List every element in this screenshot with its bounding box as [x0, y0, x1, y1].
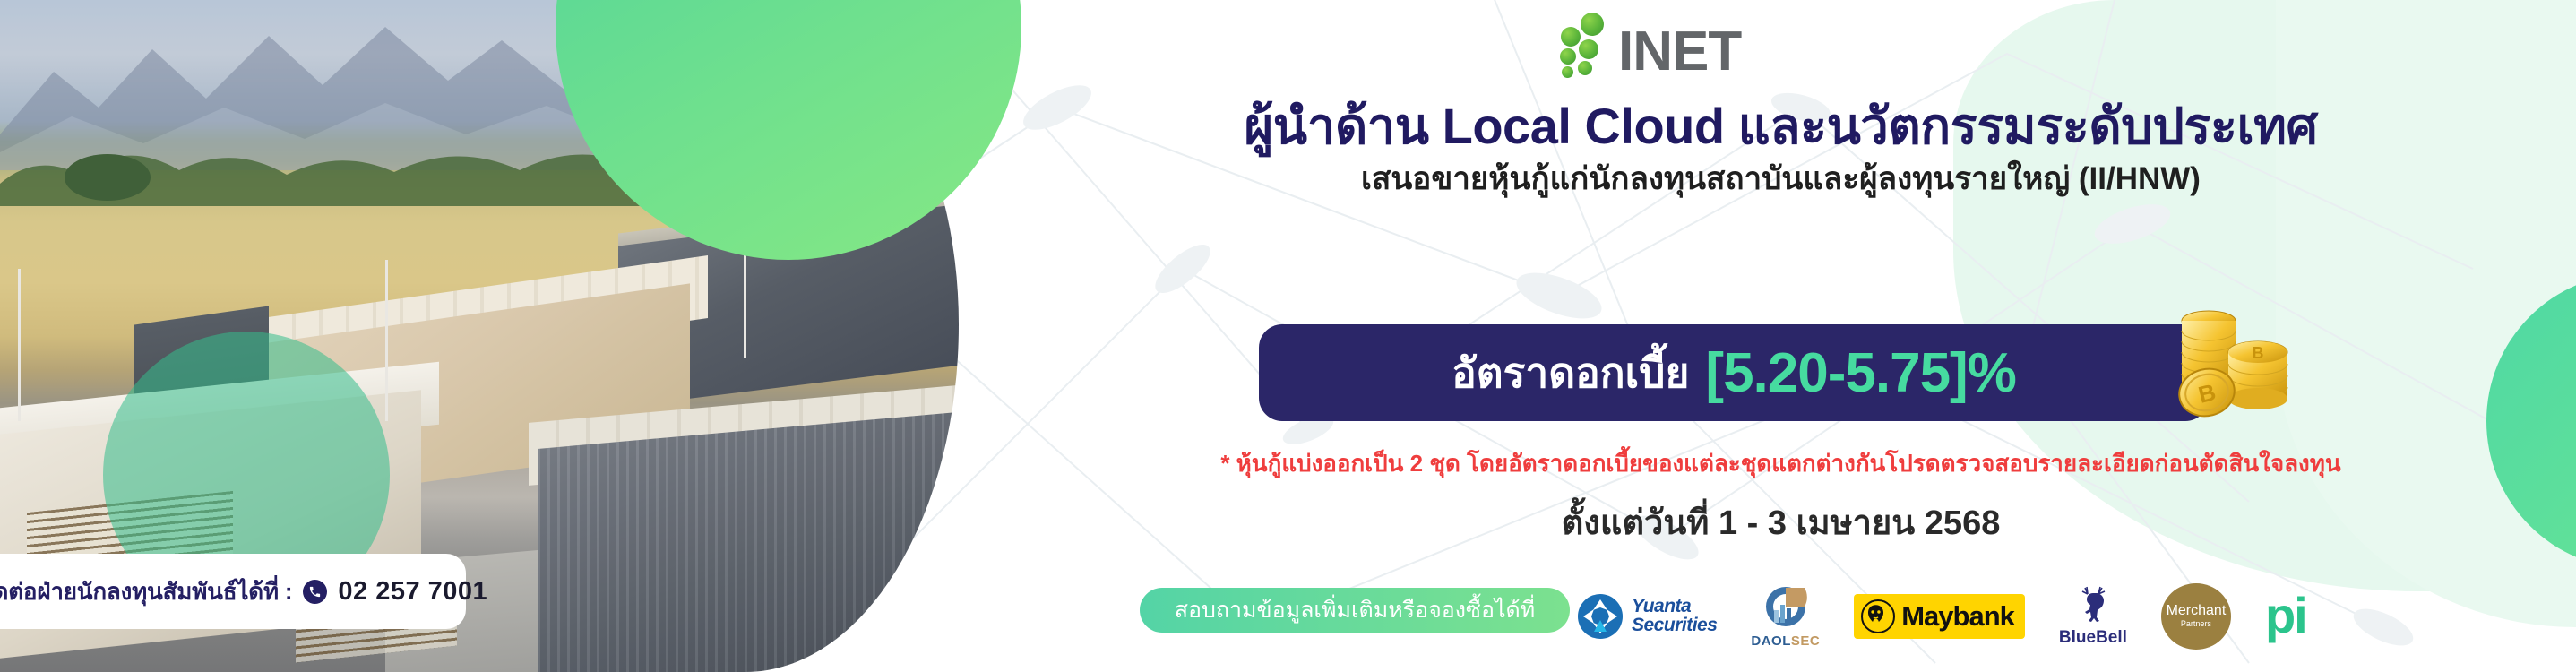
- daol-wordmark: DAOLSEC: [1751, 633, 1820, 649]
- pi-wordmark: pi: [2265, 596, 2306, 636]
- inet-logo: INET: [1559, 13, 1741, 79]
- partner-logo-yuanta[interactable]: Yuanta Securities: [1577, 593, 1717, 640]
- banner-content-column: INET ผู้นำด้าน Local Cloud และนวัตกรรมระ…: [986, 0, 2576, 672]
- partner-logos: Yuanta Securities DAOLSEC: [1577, 578, 2306, 654]
- page-subtitle: เสนอขายหุ้นกู้แก่นักลงทุนสถาบันและผู้ลงท…: [986, 154, 2576, 203]
- yuanta-mark-icon: [1577, 593, 1624, 640]
- maybank-tiger-icon: [1861, 599, 1895, 633]
- yuanta-wordmark: Yuanta Securities: [1632, 598, 1717, 634]
- merchant-line-1: Merchant: [2167, 604, 2227, 619]
- investor-relations-contact-box: ติดต่อฝ่ายนักลงทุนสัมพันธ์ได้ที่ : 02 25…: [0, 554, 466, 629]
- phone-icon: [303, 580, 327, 604]
- maybank-wordmark: Maybank: [1901, 600, 2014, 633]
- inet-dots-icon: [1559, 13, 1611, 79]
- partner-logo-daol[interactable]: DAOLSEC: [1751, 583, 1820, 649]
- bluebell-deer-icon: [2073, 585, 2113, 626]
- interest-rate-label: อัตราดอกเบี้ย: [1452, 340, 1689, 406]
- gold-coins-icon: B B: [2164, 303, 2298, 421]
- partner-logo-pi[interactable]: pi: [2265, 596, 2306, 636]
- daol-mark-icon: [1762, 583, 1809, 630]
- bluebell-wordmark: BlueBell: [2059, 628, 2127, 648]
- inet-wordmark: INET: [1618, 26, 1741, 79]
- promotional-banner: ติดต่อฝ่ายนักลงทุนสัมพันธ์ได้ที่ : 02 25…: [0, 0, 2576, 672]
- interest-rate-value: [5.20-5.75]%: [1705, 341, 2015, 405]
- offering-period: ตั้งแต่วันที่ 1 - 3 เมษายน 2568: [986, 495, 2576, 549]
- svg-text:B: B: [2253, 344, 2264, 362]
- disclaimer-note: * หุ้นกู้แบ่งออกเป็น 2 ชุด โดยอัตราดอกเบ…: [986, 445, 2576, 482]
- contact-phone-number[interactable]: 02 257 7001: [338, 577, 487, 607]
- partner-logo-maybank[interactable]: Maybank: [1854, 594, 2025, 639]
- partner-logo-bluebell[interactable]: BlueBell: [2059, 585, 2127, 648]
- partner-logo-merchant-partners[interactable]: Merchant Partners: [2161, 583, 2231, 650]
- contact-label: ติดต่อฝ่ายนักลงทุนสัมพันธ์ได้ที่ :: [0, 573, 292, 610]
- interest-rate-callout: อัตราดอกเบี้ย [5.20-5.75]%: [1259, 324, 2209, 421]
- inquiry-cta-button[interactable]: สอบถามข้อมูลเพิ่มเติมหรือจองซื้อได้ที่: [1140, 588, 1570, 633]
- merchant-line-2: Partners: [2181, 619, 2211, 629]
